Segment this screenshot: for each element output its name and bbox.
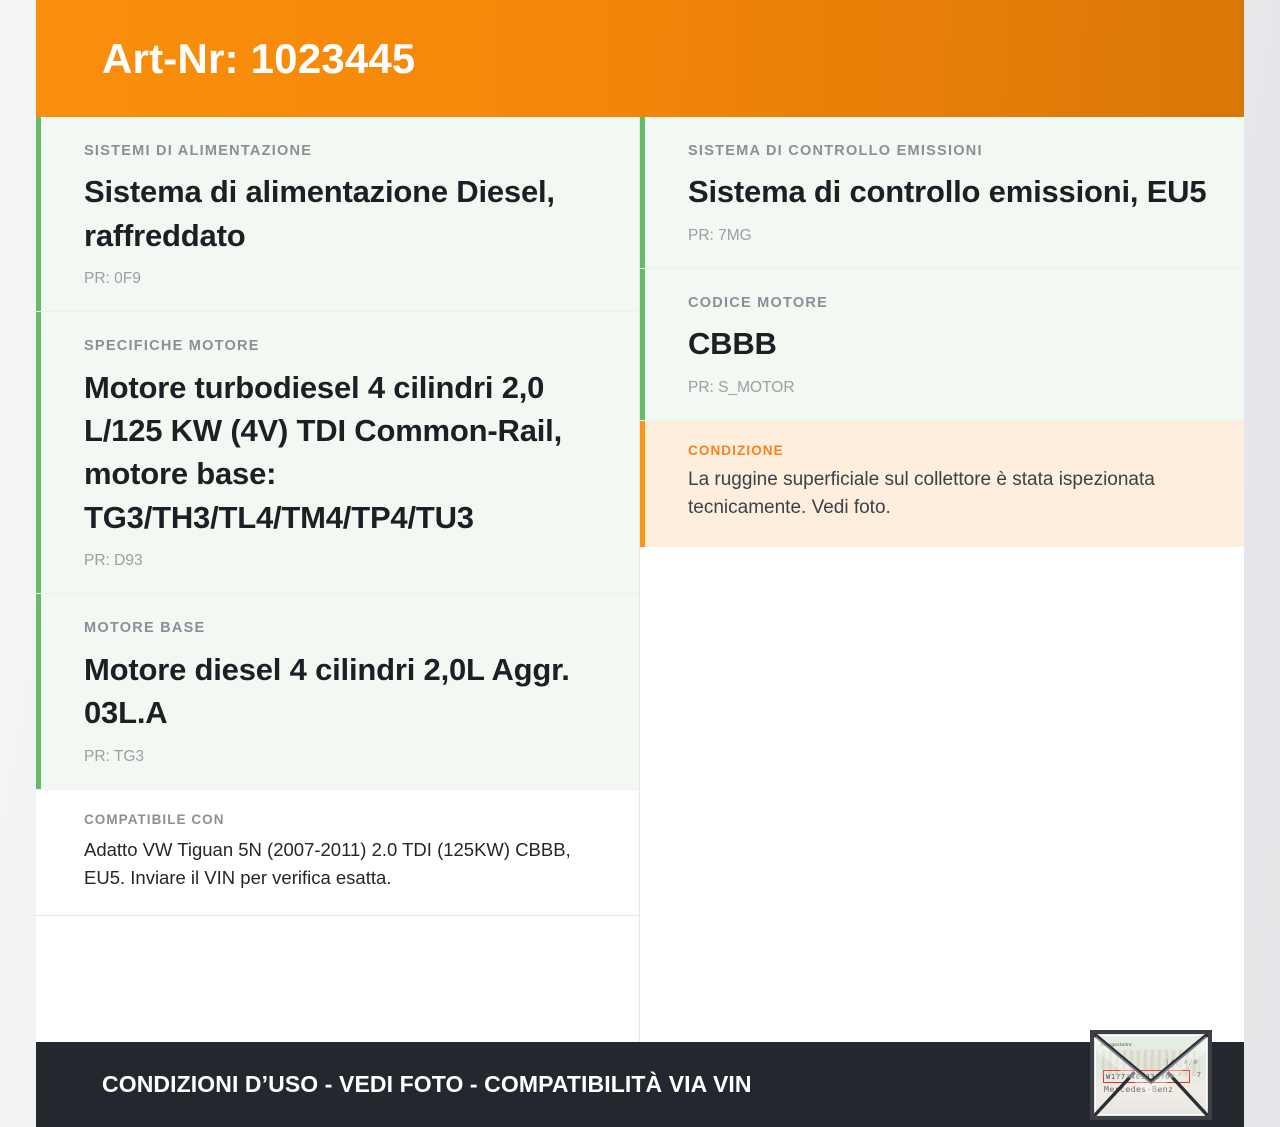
compatibility-text: Adatto VW Tiguan 5N (2007-2011) 2.0 TDI … xyxy=(84,836,611,892)
card-pr-code: PR: TG3 xyxy=(84,747,611,767)
header-bar: Art-Nr: 1023445 xyxy=(36,0,1244,117)
content-columns: SISTEMI DI ALIMENTAZIONE Sistema di alim… xyxy=(36,117,1244,1042)
card-title: Sistema di alimentazione Diesel, raffred… xyxy=(84,170,611,257)
envelope-icon xyxy=(1092,1032,1210,1118)
compatibility-card: COMPATIBILE CON Adatto VW Tiguan 5N (200… xyxy=(36,790,639,917)
footer-bar: CONDIZIONI D’USO - VEDI FOTO - COMPATIBI… xyxy=(36,1042,1244,1127)
footer-text: CONDIZIONI D’USO - VEDI FOTO - COMPATIBI… xyxy=(102,1073,752,1096)
card-label: SISTEMA DI CONTROLLO EMISSIONI xyxy=(688,143,1216,160)
spec-card-engine-code: CODICE MOTORE CBBB PR: S_MOTOR xyxy=(640,269,1244,421)
card-label: SPECIFICHE MOTORE xyxy=(84,338,611,355)
card-label: CODICE MOTORE xyxy=(688,295,1216,312)
card-pr-code: PR: 0F9 xyxy=(84,269,611,289)
right-column-filler xyxy=(640,547,1244,1042)
condition-label: CONDIZIONE xyxy=(688,443,1216,459)
card-label: COMPATIBILE CON xyxy=(84,812,611,828)
condition-text: La ruggine superficiale sul collettore è… xyxy=(688,466,1216,521)
spec-card-fuel-system: SISTEMI DI ALIMENTAZIONE Sistema di alim… xyxy=(36,117,639,312)
card-pr-code: PR: S_MOTOR xyxy=(688,378,1216,398)
spec-card-base-engine: MOTORE BASE Motore diesel 4 cilindri 2,0… xyxy=(36,594,639,789)
card-title: Sistema di controllo emissioni, EU5 xyxy=(688,170,1216,213)
condition-card: CONDIZIONE La ruggine superficiale sul c… xyxy=(640,421,1244,547)
left-column-filler xyxy=(36,916,639,1042)
page-title: Art-Nr: 1023445 xyxy=(102,38,416,80)
product-card-page: Art-Nr: 1023445 SISTEMI DI ALIMENTAZIONE… xyxy=(36,0,1244,1127)
card-title: Motore turbodiesel 4 cilindri 2,0 L/125 … xyxy=(84,366,611,540)
card-label: SISTEMI DI ALIMENTAZIONE xyxy=(84,143,611,160)
card-label: MOTORE BASE xyxy=(84,620,611,637)
card-title: CBBB xyxy=(688,322,1216,365)
card-title: Motore diesel 4 cilindri 2,0L Aggr. 03L.… xyxy=(84,648,611,735)
right-column: SISTEMA DI CONTROLLO EMISSIONI Sistema d… xyxy=(640,117,1244,1042)
left-column: SISTEMI DI ALIMENTAZIONE Sistema di alim… xyxy=(36,117,640,1042)
card-pr-code: PR: 7MG xyxy=(688,226,1216,246)
spec-card-emissions-system: SISTEMA DI CONTROLLO EMISSIONI Sistema d… xyxy=(640,117,1244,269)
card-pr-code: PR: D93 xyxy=(84,551,611,571)
spec-card-engine-specs: SPECIFICHE MOTORE Motore turbodiesel 4 c… xyxy=(36,312,639,594)
vin-document-envelope-icon: Fahrgestellnr. |4| A/0 W1?71463J31?6? 7 … xyxy=(1090,1030,1212,1120)
